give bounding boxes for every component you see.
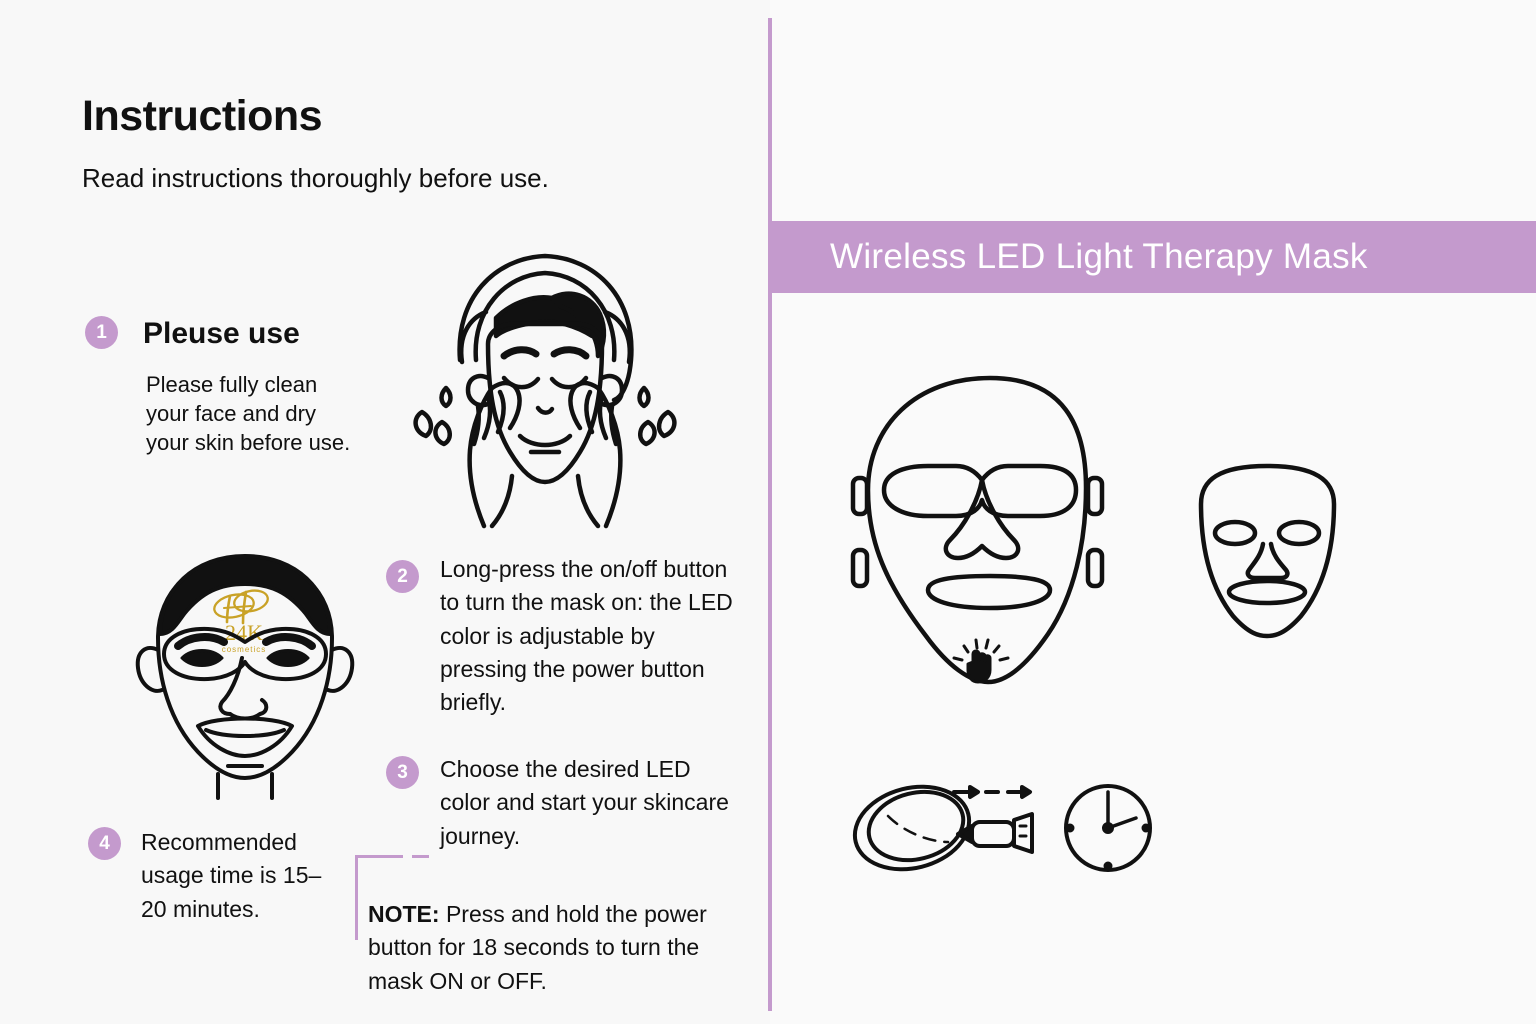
step-1-heading: Pleuse use [143,317,300,351]
step-number-3: 3 [386,756,419,789]
note-label: NOTE: [368,901,440,927]
step-1-body: Please fully clean your face and dry you… [146,370,356,457]
step-number-2: 2 [386,560,419,593]
note-bracket-side [355,855,358,940]
step-2-body: Long-press the on/off button to turn the… [440,553,740,720]
poster-root: Instructions Read instructions thoroughl… [0,0,1536,1024]
step-number-1: 1 [85,316,118,349]
svg-text:cosmetics: cosmetics [222,645,267,654]
man-wearing-mask-illustration: 24K cosmetics [120,530,370,800]
note-text: NOTE: Press and hold the power button fo… [368,898,728,998]
product-body-mask-icon [1195,460,1340,640]
panel-divider [768,18,772,1011]
banner-title: Wireless LED Light Therapy Mask [830,237,1368,277]
step-3-body: Choose the desired LED color and start y… [440,753,735,853]
page-title: Instructions [82,92,322,141]
product-banner: Wireless LED Light Therapy Mask [770,221,1536,293]
how-to-use-illustration [850,780,1170,890]
step-number-4: 4 [88,827,121,860]
step-4-body: Recommended usage time is 15–20 minutes. [141,826,341,926]
led-mask-device-illustration [840,370,1140,690]
note-bracket-top [355,855,403,858]
note-bracket-dash [412,855,429,858]
washing-face-illustration [400,240,690,530]
right-panel: 24K cosmetics [770,0,1536,1024]
page-subtitle: Read instructions thoroughly before use. [82,163,549,194]
left-panel: Instructions Read instructions thoroughl… [0,0,770,1024]
